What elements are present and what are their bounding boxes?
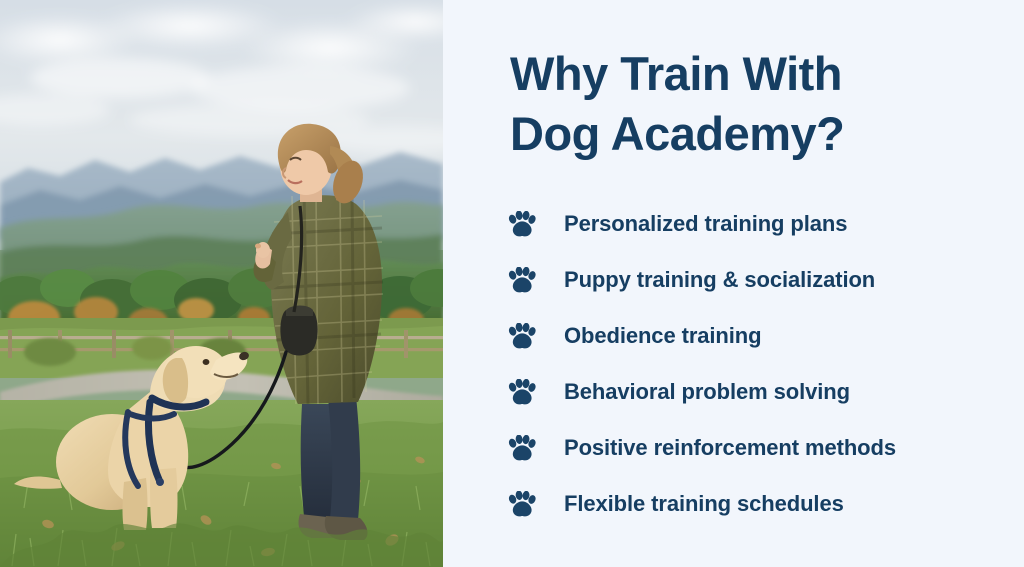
content-panel: Why Train With Dog Academy? Personalized… [443, 0, 1024, 567]
list-item: Puppy training & socialization [508, 252, 1008, 308]
list-item-label: Flexible training schedules [564, 491, 844, 517]
list-item-label: Positive reinforcement methods [564, 435, 896, 461]
benefits-list: Personalized training plans Puppy traini… [508, 196, 1008, 532]
dog-eye [203, 359, 210, 365]
photo-illustration [0, 0, 443, 567]
paw-icon [508, 379, 536, 406]
list-item-label: Behavioral problem solving [564, 379, 850, 405]
harness-ring [156, 478, 164, 486]
paw-icon [508, 267, 536, 294]
list-item: Behavioral problem solving [508, 364, 1008, 420]
treat-pouch [280, 310, 317, 356]
list-item: Positive reinforcement methods [508, 420, 1008, 476]
list-item-label: Puppy training & socialization [564, 267, 875, 293]
page-title: Why Train With Dog Academy? [510, 44, 980, 164]
list-item-label: Obedience training [564, 323, 761, 349]
list-item: Personalized training plans [508, 196, 1008, 252]
list-item: Flexible training schedules [508, 476, 1008, 532]
paw-icon [508, 491, 536, 518]
paw-icon [508, 211, 536, 238]
training-photo [0, 0, 443, 567]
paw-icon [508, 435, 536, 462]
promo-banner: Why Train With Dog Academy? Personalized… [0, 0, 1024, 567]
list-item: Obedience training [508, 308, 1008, 364]
list-item-label: Personalized training plans [564, 211, 847, 237]
paw-icon [508, 323, 536, 350]
